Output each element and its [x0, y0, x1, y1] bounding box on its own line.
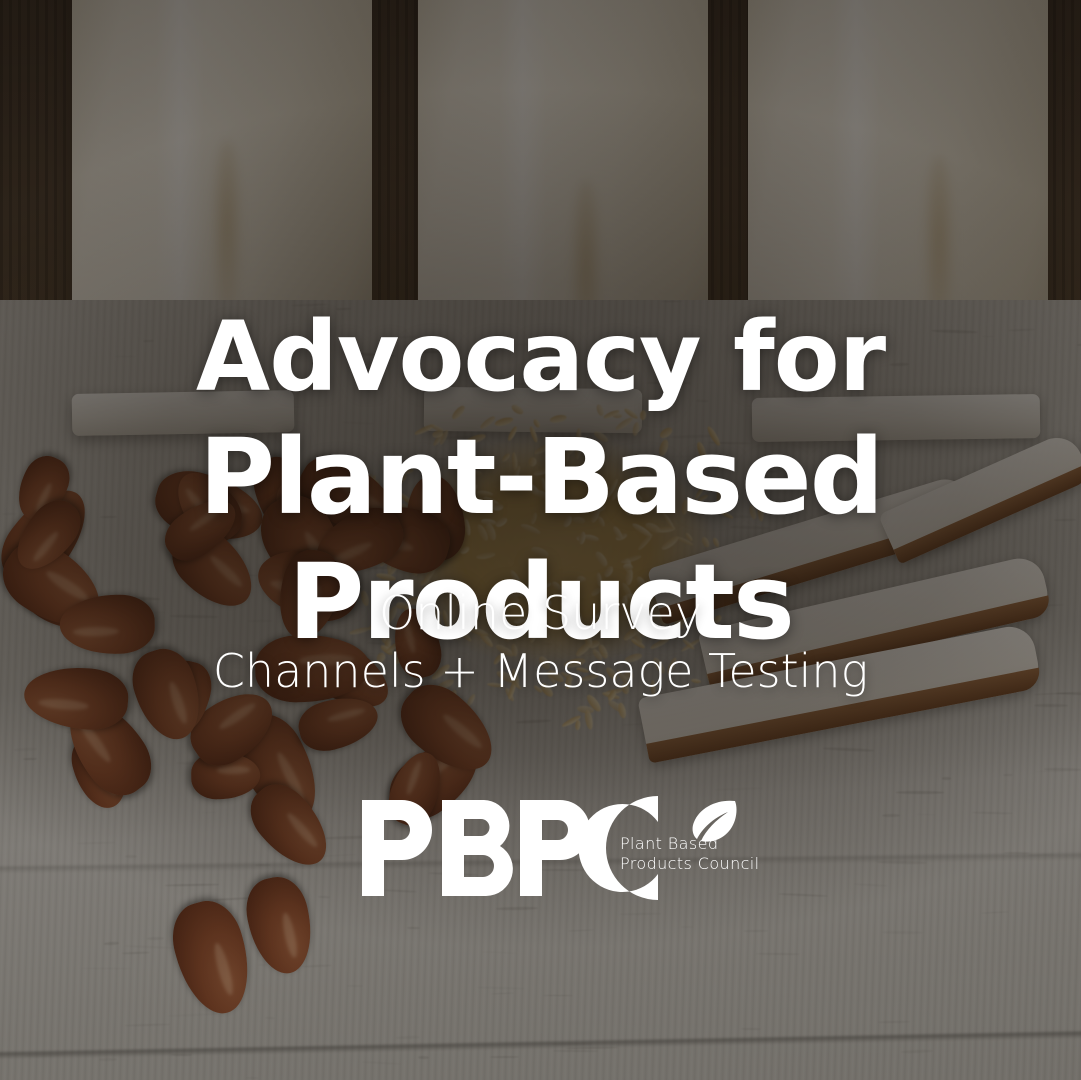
slide-subtitle: Online Survey Channels + Message Testing — [0, 585, 1081, 701]
tagline-line-2: Products Council — [620, 854, 760, 874]
promo-slide: Advocacy for Plant-Based Products Online… — [0, 0, 1081, 1080]
slide-content: Advocacy for Plant-Based Products Online… — [0, 0, 1081, 1080]
pbpc-tagline: Plant Based Products Council — [620, 834, 760, 875]
pbpc-logo: Plant Based Products Council — [358, 796, 758, 904]
tagline-line-1: Plant Based — [620, 834, 760, 854]
subtitle-line-2: Channels + Message Testing — [0, 643, 1081, 701]
title-line-1: Advocacy for — [196, 301, 885, 413]
subtitle-line-1: Online Survey — [0, 585, 1081, 643]
